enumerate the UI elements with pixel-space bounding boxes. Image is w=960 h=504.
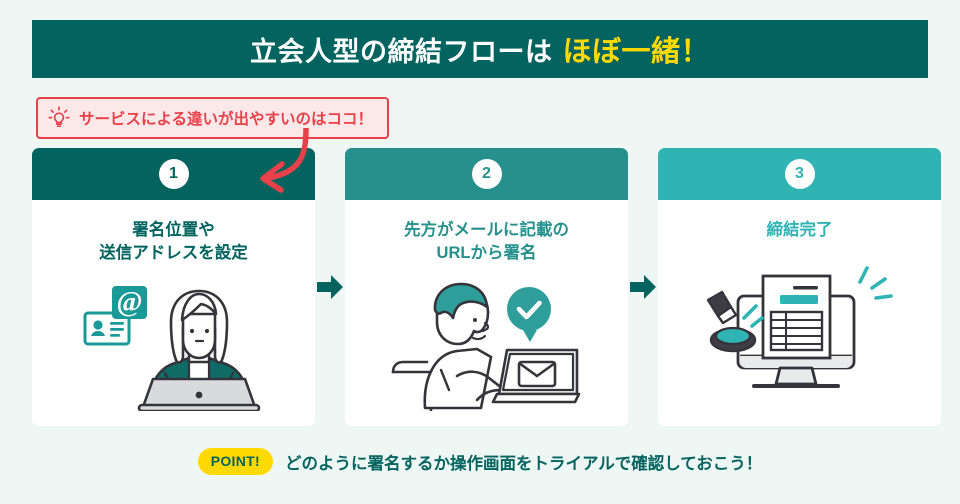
right-arrow-icon xyxy=(628,272,658,302)
steps-row: 1 署名位置や 送信アドレスを設定 @ xyxy=(32,148,928,426)
step-card-2[interactable]: 2 先方がメールに記載の URLから署名 xyxy=(345,148,628,426)
step-1-title: 署名位置や 送信アドレスを設定 xyxy=(32,219,315,266)
connector-arrow-1 xyxy=(315,148,345,426)
callout-text: サービスによる違いが出やすいのはココ！ xyxy=(79,107,373,129)
step-2-title: 先方がメールに記載の URLから署名 xyxy=(345,219,628,266)
step-3-number: 3 xyxy=(785,159,815,189)
page-title-accent: ほぼ一緒！ xyxy=(562,28,710,70)
callout-box: サービスによる違いが出やすいのはココ！ xyxy=(36,97,389,139)
connector-arrow-2 xyxy=(628,148,658,426)
point-badge: POINT! xyxy=(198,448,273,475)
page-title-bar: 立会人型の締結フローは ほぼ一緒！ xyxy=(32,20,928,78)
step-card-3[interactable]: 3 締結完了 xyxy=(658,148,941,426)
step-3-header: 3 xyxy=(658,148,941,200)
step-1-number: 1 xyxy=(159,159,189,189)
step-card-1[interactable]: 1 署名位置や 送信アドレスを設定 @ xyxy=(32,148,315,426)
footer-point-row: POINT! どのように署名するか操作画面をトライアルで確認しておこう！ xyxy=(0,448,960,475)
step-3-title: 締結完了 xyxy=(658,219,941,242)
step-2-illustration xyxy=(345,266,628,426)
step-2-number: 2 xyxy=(472,159,502,189)
lightbulb-icon xyxy=(48,106,70,130)
step-2-header: 2 xyxy=(345,148,628,200)
svg-text:@: @ xyxy=(116,287,142,318)
right-arrow-icon xyxy=(315,272,345,302)
step-1-illustration: @ xyxy=(32,266,315,426)
footer-text: どのように署名するか操作画面をトライアルで確認しておこう！ xyxy=(285,450,762,474)
step-3-illustration xyxy=(658,242,941,426)
step-1-header: 1 xyxy=(32,148,315,200)
page-title-main: 立会人型の締結フローは xyxy=(250,30,553,69)
